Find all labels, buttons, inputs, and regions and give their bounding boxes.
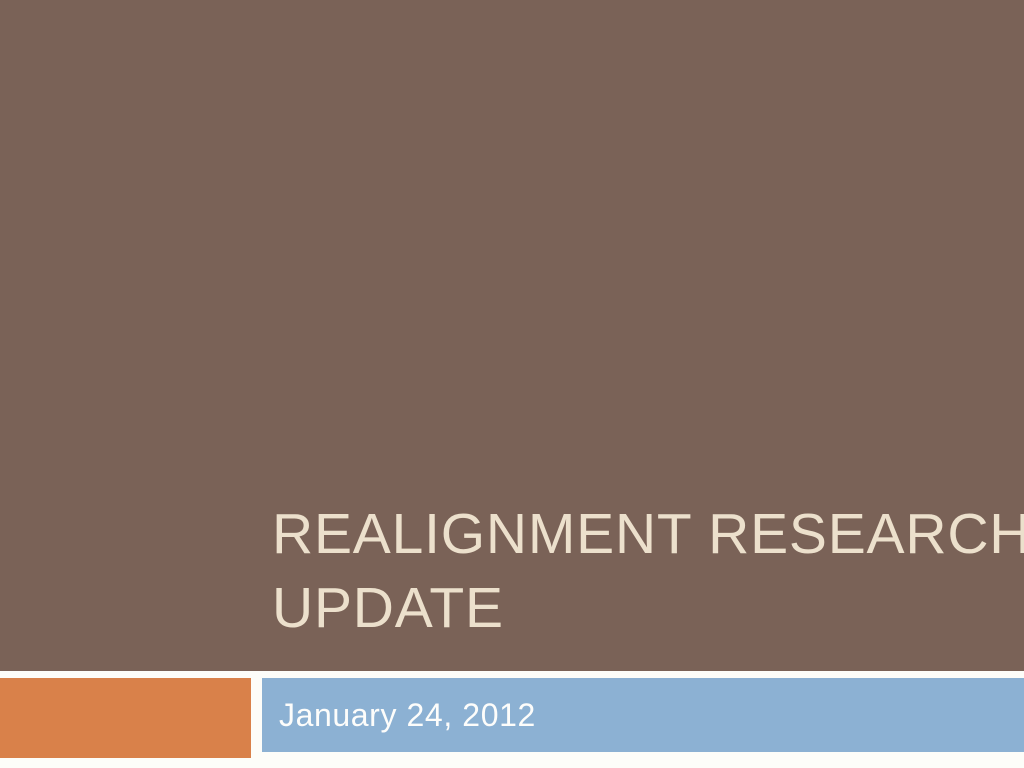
orange-accent-square: [0, 678, 251, 758]
blue-subtitle-bar: January 24, 2012: [262, 678, 1024, 752]
subtitle-date-text: January 24, 2012: [262, 697, 536, 734]
title-slide: Realignment Research Update January 24, …: [0, 0, 1024, 768]
page-title: Realignment Research Update: [272, 497, 972, 645]
page-title-line-2: Update: [272, 571, 972, 645]
page-title-line-1: Realignment Research: [272, 497, 972, 571]
